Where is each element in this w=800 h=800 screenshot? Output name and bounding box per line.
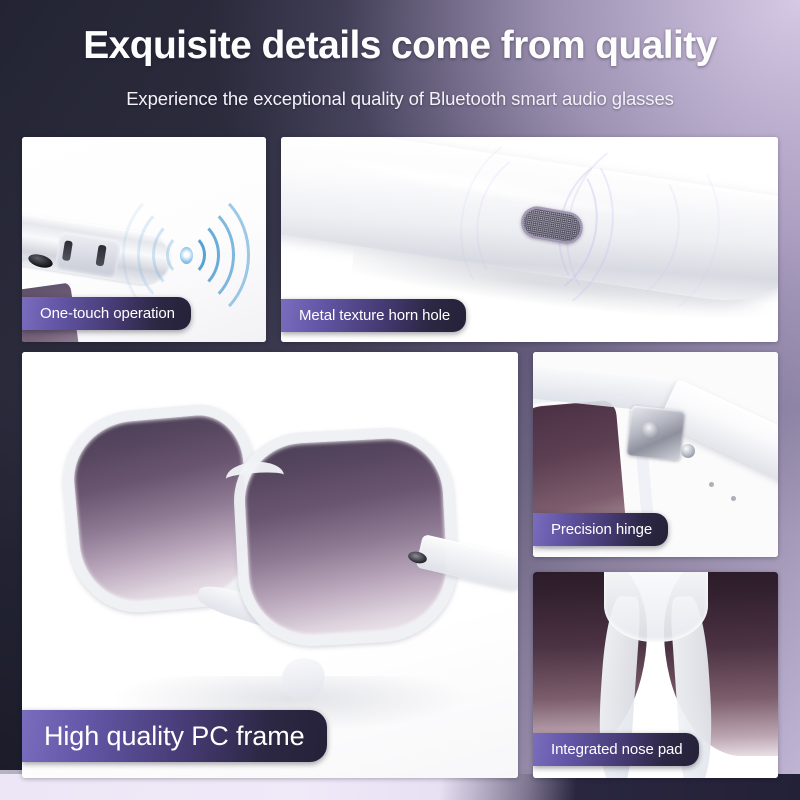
caption-text: Metal texture horn hole	[299, 307, 450, 324]
caption-badge-one-touch: One-touch operation	[22, 297, 191, 330]
caption-text: Integrated nose pad	[551, 741, 683, 758]
panel-one-touch: One-touch operation	[22, 137, 266, 342]
caption-badge-nose-pad: Integrated nose pad	[533, 733, 699, 766]
caption-badge-precision-hinge: Precision hinge	[533, 513, 668, 546]
panel-precision-hinge: Precision hinge	[533, 352, 778, 557]
arm-vent-dot	[731, 496, 736, 501]
panel-horn-hole: Metal texture horn hole	[281, 137, 778, 342]
panel-nose-pad: Integrated nose pad	[533, 572, 778, 778]
panel-pc-frame: High quality PC frame	[22, 352, 518, 778]
page-title: Exquisite details come from quality	[0, 26, 800, 67]
metal-hinge	[627, 405, 686, 460]
arm-vent-dot	[709, 482, 714, 487]
caption-text: Precision hinge	[551, 521, 652, 538]
caption-badge-horn-hole: Metal texture horn hole	[281, 299, 466, 332]
product-detail-image: Exquisite details come from quality Expe…	[0, 0, 800, 800]
integrated-nose-pad-shape	[604, 572, 708, 642]
caption-text: One-touch operation	[40, 305, 175, 322]
page-subtitle: Experience the exceptional quality of Bl…	[0, 88, 800, 110]
sunglasses-illustration	[50, 396, 496, 716]
caption-badge-pc-frame: High quality PC frame	[22, 710, 327, 762]
caption-text: High quality PC frame	[44, 721, 305, 752]
hinge-screw	[681, 444, 695, 458]
